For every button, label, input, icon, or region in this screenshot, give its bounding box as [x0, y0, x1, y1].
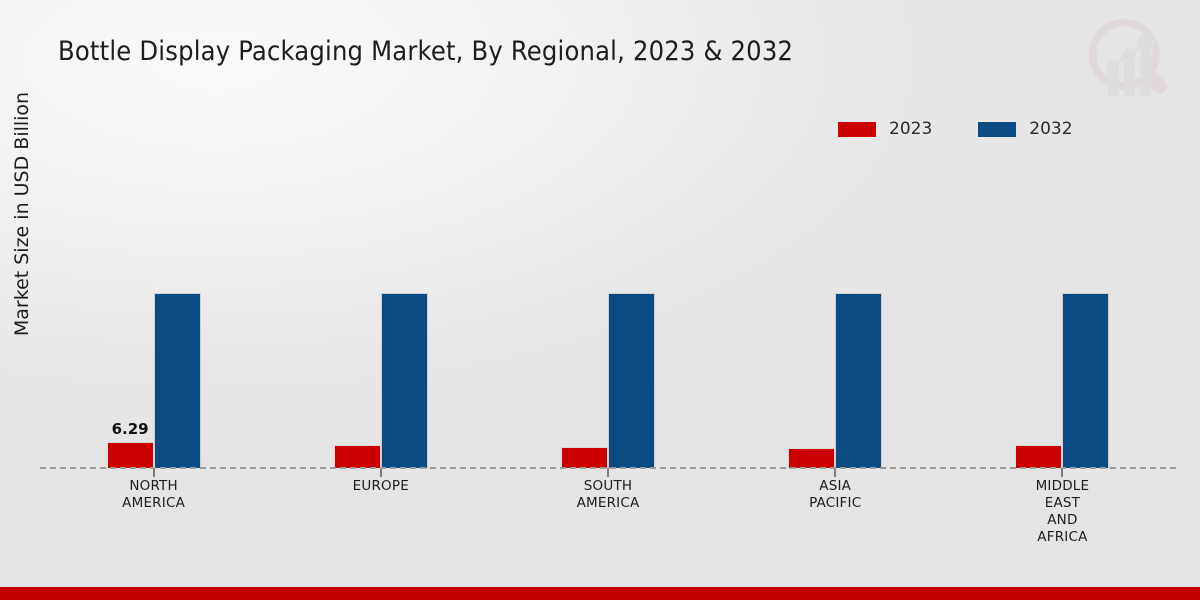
- chart-title: Bottle Display Packaging Market, By Regi…: [58, 36, 793, 67]
- bar-value-2023-north-america: 6.29: [112, 420, 149, 438]
- category-label-line: AND: [949, 512, 1176, 529]
- legend-label-2032: 2032: [1029, 119, 1072, 139]
- bar-2032-middle-east-and-africa[interactable]: [1062, 293, 1109, 468]
- watermark-logo-icon: [1082, 12, 1178, 108]
- legend-item-2023[interactable]: 2023: [838, 119, 932, 139]
- category-label-line: SOUTH: [494, 478, 721, 495]
- category-label-line: AMERICA: [40, 495, 267, 512]
- category-label-asia-pacific: ASIA PACIFIC: [722, 478, 949, 546]
- bar-2023-europe[interactable]: [334, 445, 381, 468]
- legend-swatch-2023: [838, 122, 876, 137]
- category-label-line: NORTH: [40, 478, 267, 495]
- category-label-line: EUROPE: [267, 478, 494, 495]
- category-label-line: MIDDLE: [949, 478, 1176, 495]
- category-label-line: AMERICA: [494, 495, 721, 512]
- bar-group-middle-east-and-africa: [949, 180, 1176, 468]
- bar-2032-south-america[interactable]: [608, 293, 655, 468]
- bar-2023-north-america[interactable]: 6.29: [107, 442, 154, 468]
- category-label-line: ASIA: [722, 478, 949, 495]
- bar-2032-asia-pacific[interactable]: [835, 293, 882, 468]
- y-axis-label: Market Size in USD Billion: [11, 44, 33, 384]
- bar-2032-north-america[interactable]: [154, 293, 201, 468]
- bar-group-asia-pacific: [722, 180, 949, 468]
- bar-2023-middle-east-and-africa[interactable]: [1015, 445, 1062, 468]
- axis-tick: [380, 468, 382, 477]
- plot-area: 6.29: [40, 180, 1176, 468]
- category-label-south-america: SOUTH AMERICA: [494, 478, 721, 546]
- category-label-line: PACIFIC: [722, 495, 949, 512]
- legend-swatch-2032: [978, 122, 1016, 137]
- category-label-line: AFRICA: [949, 529, 1176, 546]
- footer-accent-bar: [0, 587, 1200, 600]
- axis-tick: [607, 468, 609, 477]
- axis-tick: [834, 468, 836, 477]
- bar-group-south-america: [494, 180, 721, 468]
- bar-2023-south-america[interactable]: [561, 447, 608, 468]
- bar-group-north-america: 6.29: [40, 180, 267, 468]
- bar-group-europe: [267, 180, 494, 468]
- axis-tick: [1061, 468, 1063, 477]
- category-label-line: EAST: [949, 495, 1176, 512]
- category-label-europe: EUROPE: [267, 478, 494, 546]
- bar-2023-asia-pacific[interactable]: [788, 448, 835, 468]
- x-axis-baseline: [40, 467, 1176, 469]
- chart-canvas: Bottle Display Packaging Market, By Regi…: [0, 0, 1200, 600]
- category-label-north-america: NORTH AMERICA: [40, 478, 267, 546]
- legend-item-2032[interactable]: 2032: [978, 119, 1072, 139]
- chart-legend: 2023 2032: [838, 119, 1073, 139]
- x-axis-category-labels: NORTH AMERICA EUROPE SOUTH AMERICA ASIA …: [40, 478, 1176, 546]
- axis-tick: [153, 468, 155, 477]
- legend-label-2023: 2023: [889, 119, 932, 139]
- category-label-middle-east-and-africa: MIDDLE EAST AND AFRICA: [949, 478, 1176, 546]
- bar-2032-europe[interactable]: [381, 293, 428, 468]
